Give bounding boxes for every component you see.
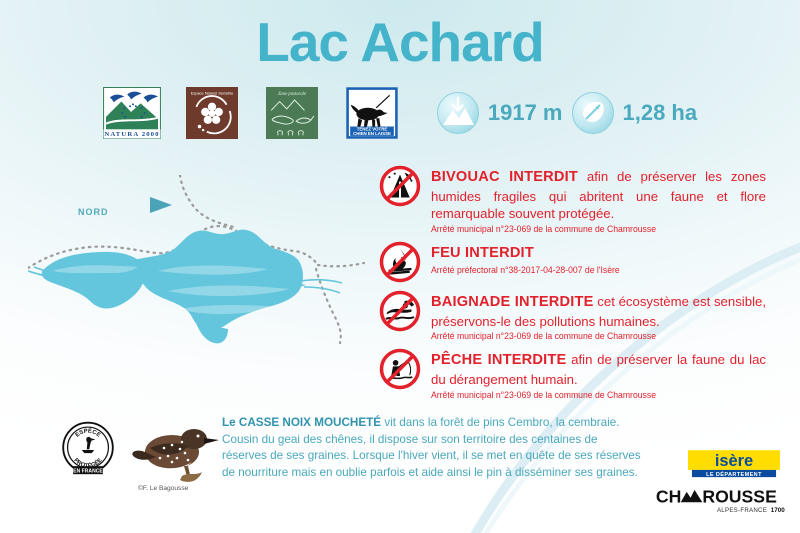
no-fishing-icon	[378, 347, 422, 391]
altitude-value: 1917 m	[488, 100, 563, 126]
chien-en-laisse-logo: TENEZ VOTRE CHIEN EN LAISSE	[343, 87, 401, 139]
area-value: 1,28 ha	[623, 100, 698, 126]
rule-heading: BIVOUAC INTERDIT	[431, 169, 578, 185]
rule-item: BAIGNADE INTERDITE cet écosystème est se…	[378, 291, 766, 342]
logo-row: NATURA 2000 Espace Naturel Sensible	[0, 83, 800, 143]
protected-species-badge: ESPÈCE PROTÉGÉE EN FRANCE	[57, 419, 119, 481]
altitude-mountain-icon	[437, 92, 479, 134]
natura-2000-logo: NATURA 2000	[103, 87, 161, 139]
surface-area-icon	[572, 92, 614, 134]
rule-heading: BAIGNADE INTERDITE	[431, 294, 594, 310]
species-name: Le CASSE NOIX MOUCHETÉ	[222, 416, 381, 429]
fact-area: 1,28 ha	[572, 92, 698, 134]
rule-item: FEU INTERDIT Arrêté préfectoral n°38-201…	[378, 242, 766, 284]
isere-logo: isère LE DÉPARTEMENT	[688, 450, 780, 478]
rule-item: PÊCHE INTERDITE afin de préserver la fau…	[378, 349, 766, 400]
svg-text:isère: isère	[715, 452, 753, 470]
svg-text:EN FRANCE: EN FRANCE	[73, 468, 103, 474]
svg-text:Zone pastorale: Zone pastorale	[278, 92, 306, 97]
no-swimming-icon	[378, 289, 422, 333]
nutcracker-bird-photo	[122, 414, 222, 486]
rule-item: BIVOUAC INTERDIT afin de préserver les z…	[378, 166, 766, 235]
rule-text: BAIGNADE INTERDITE cet écosystème est se…	[431, 293, 766, 330]
mountain-glyph	[681, 490, 703, 502]
svg-text:CH: CH	[656, 486, 681, 506]
rule-text: BIVOUAC INTERDIT afin de préserver les z…	[431, 168, 766, 223]
lake-shape	[42, 230, 303, 344]
photo-credit: ©F. Le Bagousse	[138, 485, 188, 492]
svg-text:ALPES-FRANCE: ALPES-FRANCE	[717, 507, 767, 514]
species-description: Le CASSE NOIX MOUCHETÉ vit dans la forêt…	[222, 415, 642, 481]
rules-list: BIVOUAC INTERDIT afin de préserver les z…	[378, 166, 766, 408]
fact-altitude: 1917 m	[437, 92, 563, 134]
north-arrow-icon	[150, 197, 172, 213]
north-label: NORD	[78, 207, 109, 217]
svg-text:Espace Naturel Sensible: Espace Naturel Sensible	[191, 90, 234, 95]
rule-text: PÊCHE INTERDITE afin de préserver la fau…	[431, 351, 766, 388]
poster-root: Lac Achard NATURA 2000	[0, 0, 800, 533]
rule-reference: Arrêté municipal n°23-069 de la commune …	[431, 224, 743, 235]
rule-text: FEU INTERDIT	[431, 244, 766, 264]
svg-text:CHIEN EN LAISSE: CHIEN EN LAISSE	[353, 131, 391, 136]
rule-reference: Arrêté municipal n°23-069 de la commune …	[431, 390, 743, 401]
page-title: Lac Achard	[0, 14, 800, 72]
svg-text:NATURA 2000: NATURA 2000	[104, 131, 159, 138]
rule-heading: PÊCHE INTERDITE	[431, 352, 566, 368]
zone-pastorale-logo: Zone pastorale	[263, 87, 321, 139]
no-bivouac-icon	[378, 164, 422, 208]
rule-reference: Arrêté municipal n°23-069 de la commune …	[431, 331, 743, 342]
svg-text:1700: 1700	[771, 507, 785, 514]
svg-text:ROUSSE: ROUSSE	[702, 486, 777, 506]
no-fire-icon	[378, 240, 422, 284]
facts-group: 1917 m 1,28 ha	[437, 92, 697, 134]
espace-naturel-sensible-logo: Espace Naturel Sensible	[183, 87, 241, 139]
rule-reference: Arrêté préfectoral n°38-2017-04-28-007 d…	[431, 265, 743, 276]
rule-heading: FEU INTERDIT	[431, 245, 534, 261]
chamrousse-logo: CH ROUSSE ALPES-FRANCE 1700	[654, 484, 786, 518]
